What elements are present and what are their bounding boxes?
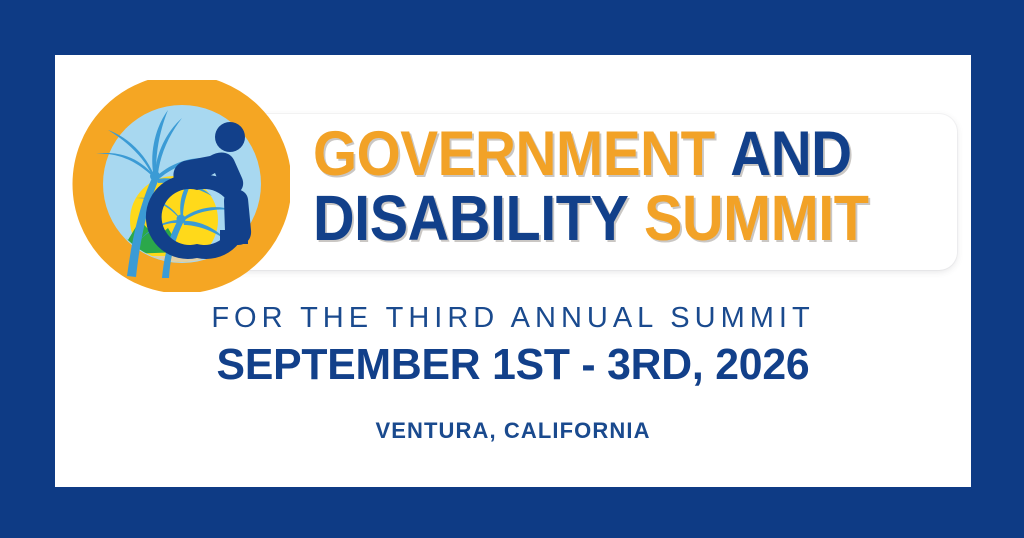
headline-block: GOVERNMENT AND DISABILITY SUMMIT: [313, 122, 933, 250]
summit-logo: [70, 80, 290, 292]
event-tagline: FOR THE THIRD ANNUAL SUMMIT: [55, 300, 971, 336]
title-government: GOVERNMENT: [313, 119, 715, 189]
title-disability: DISABILITY: [313, 182, 629, 254]
event-dates: SEPTEMBER 1ST - 3RD, 2026: [69, 339, 958, 391]
title-line-1: GOVERNMENT AND: [313, 122, 871, 186]
title-summit-spacer: [629, 182, 645, 254]
title-line-2: DISABILITY SUMMIT: [313, 186, 871, 250]
title-and-spacer: [715, 119, 730, 189]
event-banner: GOVERNMENT AND DISABILITY SUMMIT FOR THE…: [0, 0, 1024, 538]
title-summit: SUMMIT: [644, 182, 868, 254]
title-and: AND: [730, 119, 852, 189]
event-location: VENTURA, CALIFORNIA: [55, 417, 971, 445]
event-details-block: FOR THE THIRD ANNUAL SUMMIT SEPTEMBER 1S…: [55, 300, 971, 445]
